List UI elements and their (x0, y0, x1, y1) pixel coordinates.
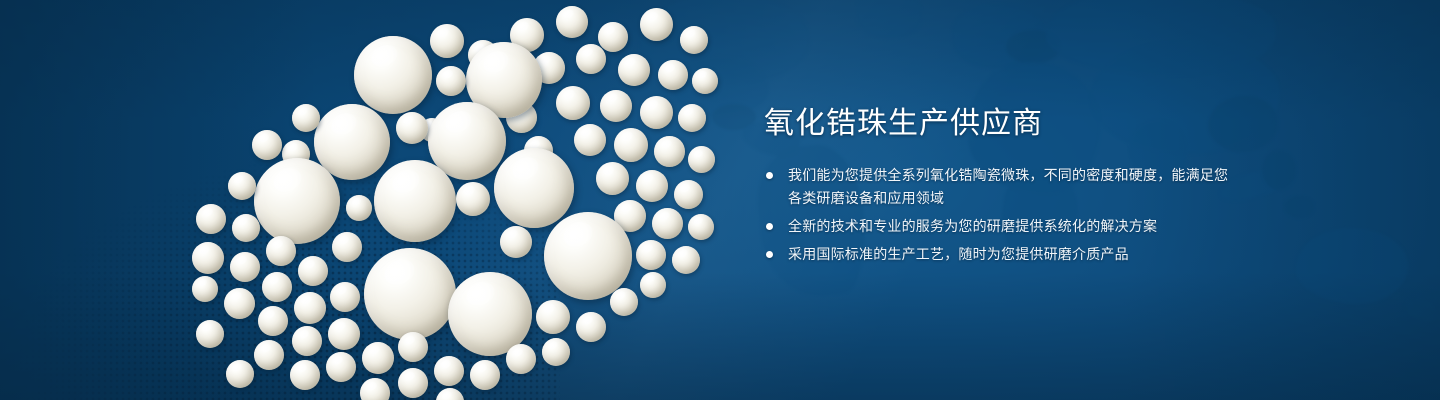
feature-list: 我们能为您提供全系列氧化锆陶瓷微珠，不同的密度和硬度，能满足您各类研磨设备和应用… (764, 164, 1234, 266)
bullet-marker-icon (766, 251, 773, 258)
bullet-marker-icon (766, 172, 773, 179)
banner-copy: 氧化锆珠生产供应商 我们能为您提供全系列氧化锆陶瓷微珠，不同的密度和硬度，能满足… (764, 104, 1234, 271)
list-item: 采用国际标准的生产工艺，随时为您提供研磨介质产品 (764, 243, 1234, 266)
zirconia-beads-image (0, 0, 740, 400)
list-item-text: 全新的技术和专业的服务为您的研磨提供系统化的解决方案 (788, 218, 1157, 234)
list-item: 我们能为您提供全系列氧化锆陶瓷微珠，不同的密度和硬度，能满足您各类研磨设备和应用… (764, 164, 1234, 210)
page-title: 氧化锆珠生产供应商 (764, 104, 1234, 144)
bullet-marker-icon (766, 223, 773, 230)
list-item-text: 采用国际标准的生产工艺，随时为您提供研磨介质产品 (788, 246, 1129, 262)
list-item: 全新的技术和专业的服务为您的研磨提供系统化的解决方案 (764, 215, 1234, 238)
hero-banner: 氧化锆珠生产供应商 我们能为您提供全系列氧化锆陶瓷微珠，不同的密度和硬度，能满足… (0, 0, 1440, 400)
list-item-text: 我们能为您提供全系列氧化锆陶瓷微珠，不同的密度和硬度，能满足您各类研磨设备和应用… (788, 167, 1228, 206)
